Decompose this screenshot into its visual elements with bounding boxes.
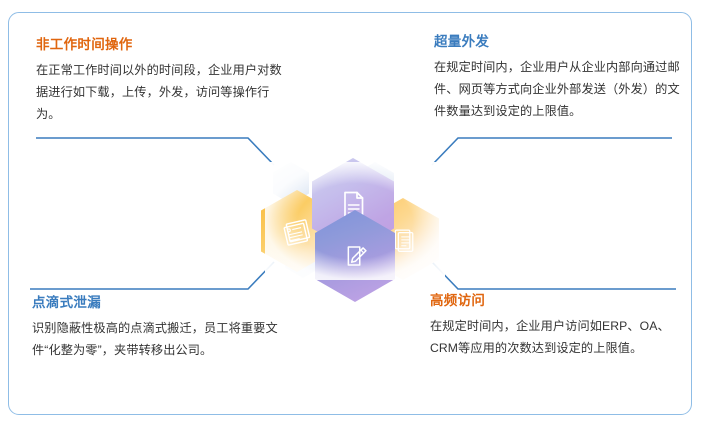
- feature-block-bottom-left: 点滴式泄漏 识别隐蔽性极高的点滴式搬迁，员工将重要文件“化整为零”，夹带转移出公…: [32, 294, 282, 361]
- feature-block-top-right: 超量外发 在规定时间内，企业用户从企业内部向通过邮件、网页等方式向企业外部发送（…: [434, 33, 686, 122]
- feature-body-top-left: 在正常工作时间以外的时间段，企业用户对数据进行如下载，上传，外发，访问等操作行为…: [36, 59, 291, 125]
- feature-body-bottom-left: 识别隐蔽性极高的点滴式搬迁，员工将重要文件“化整为零”，夹带转移出公司。: [32, 317, 282, 361]
- feature-body-top-right: 在规定时间内，企业用户从企业内部向通过邮件、网页等方式向企业外部发送（外发）的文…: [434, 56, 686, 122]
- feature-body-bottom-right: 在规定时间内，企业用户访问如ERP、OA、CRM等应用的次数达到设定的上限值。: [430, 315, 688, 359]
- cluster-glow: [265, 162, 445, 280]
- infographic-canvas: 非工作时间操作 在正常工作时间以外的时间段，企业用户对数据进行如下载，上传，外发…: [0, 0, 705, 429]
- feature-block-top-left: 非工作时间操作 在正常工作时间以外的时间段，企业用户对数据进行如下载，上传，外发…: [36, 36, 291, 125]
- feature-heading-bottom-right: 高频访问: [430, 292, 688, 310]
- feature-heading-top-right: 超量外发: [434, 33, 686, 51]
- center-hexagon-cluster: [255, 148, 455, 288]
- feature-heading-top-left: 非工作时间操作: [36, 36, 291, 54]
- feature-heading-bottom-left: 点滴式泄漏: [32, 294, 282, 312]
- feature-block-bottom-right: 高频访问 在规定时间内，企业用户访问如ERP、OA、CRM等应用的次数达到设定的…: [430, 292, 688, 359]
